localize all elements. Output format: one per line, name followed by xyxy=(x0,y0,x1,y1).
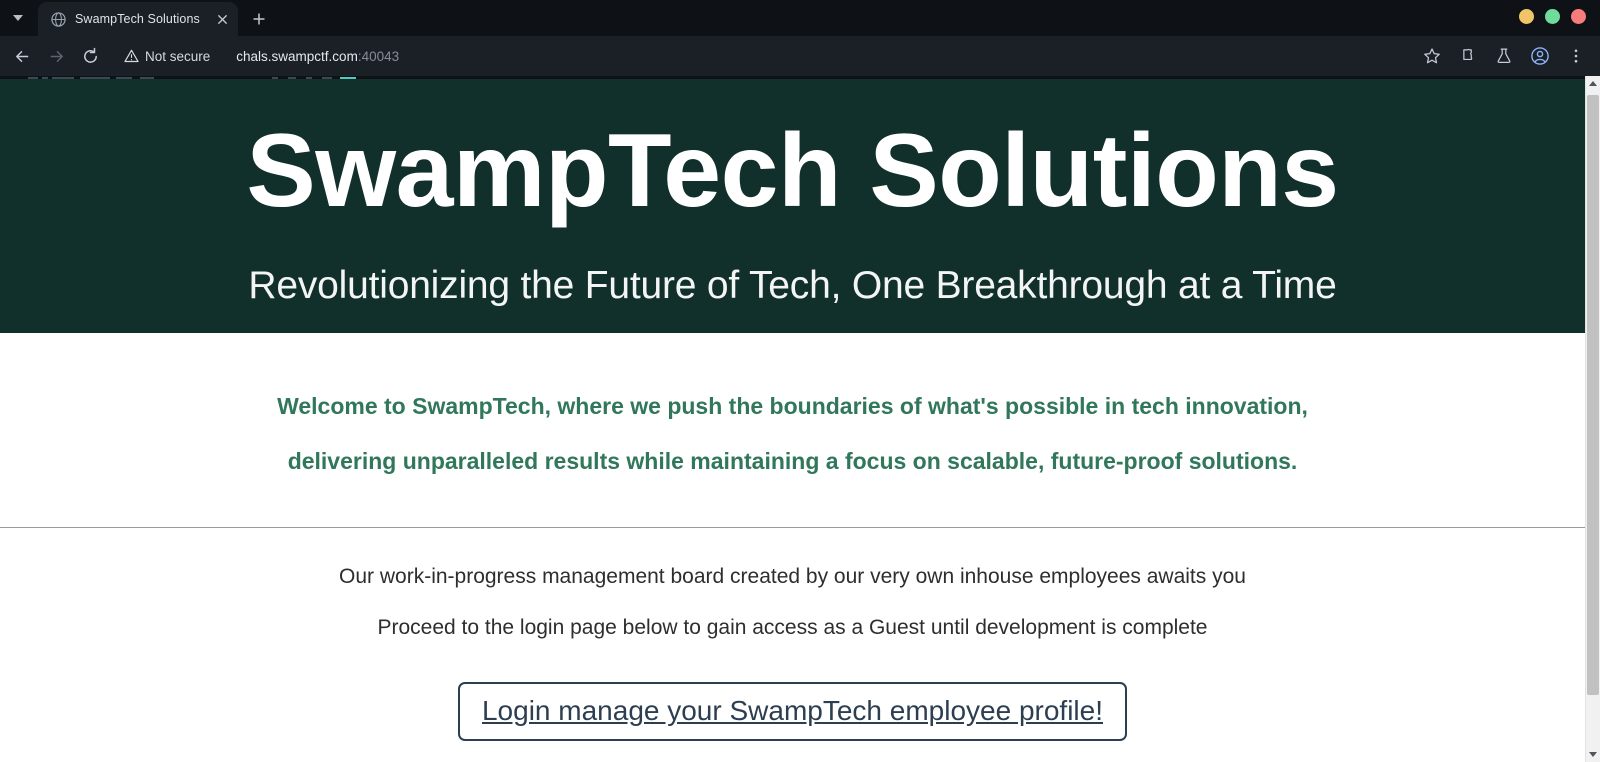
chevron-down-icon xyxy=(13,15,23,21)
forward-arrow-icon xyxy=(47,47,66,66)
puzzle-piece-icon xyxy=(1459,47,1477,65)
three-dot-menu-icon xyxy=(1567,47,1585,65)
page-content: SwampTech Solutions Revolutionizing the … xyxy=(0,76,1585,762)
url-text[interactable]: chals.swampctf.com:40043 xyxy=(236,49,399,64)
info-line-1: Our work-in-progress management board cr… xyxy=(40,562,1545,592)
tab-search-button[interactable] xyxy=(0,0,36,36)
globe-icon xyxy=(50,11,66,27)
security-label: Not secure xyxy=(145,49,210,64)
window-close-button[interactable] xyxy=(1571,9,1586,24)
browser-menu-button[interactable] xyxy=(1560,40,1592,72)
browser-toolbar: Not secure chals.swampctf.com:40043 xyxy=(0,36,1600,76)
welcome-line-1: Welcome to SwampTech, where we push the … xyxy=(40,379,1545,434)
close-icon[interactable] xyxy=(212,9,232,29)
extensions-button[interactable] xyxy=(1452,40,1484,72)
flask-icon xyxy=(1495,47,1513,65)
reload-icon xyxy=(81,47,100,66)
scroll-up-button[interactable] xyxy=(1586,76,1600,91)
scrollbar-thumb[interactable] xyxy=(1587,95,1599,695)
scrollbar-track[interactable] xyxy=(1586,91,1600,747)
plus-icon xyxy=(252,12,266,26)
welcome-section: Welcome to SwampTech, where we push the … xyxy=(0,333,1585,519)
scroll-down-arrow-icon xyxy=(1589,752,1597,757)
toolbar-actions xyxy=(1416,40,1592,72)
scroll-down-button[interactable] xyxy=(1586,747,1600,762)
hero-banner: SwampTech Solutions Revolutionizing the … xyxy=(0,79,1585,333)
profile-button[interactable] xyxy=(1524,40,1556,72)
security-status[interactable]: Not secure xyxy=(124,49,210,64)
bookmark-button[interactable] xyxy=(1416,40,1448,72)
warning-triangle-icon xyxy=(124,49,139,63)
url-host: chals.swampctf.com xyxy=(236,49,358,64)
info-section: Our work-in-progress management board cr… xyxy=(0,528,1585,643)
labs-button[interactable] xyxy=(1488,40,1520,72)
address-bar[interactable]: Not secure chals.swampctf.com:40043 xyxy=(114,41,1414,71)
reload-button[interactable] xyxy=(74,40,106,72)
account-circle-icon xyxy=(1530,46,1550,66)
tab-title: SwampTech Solutions xyxy=(75,12,203,26)
star-icon xyxy=(1423,47,1441,65)
page-title: SwampTech Solutions xyxy=(0,113,1585,229)
tab-swamptech-solutions[interactable]: SwampTech Solutions xyxy=(38,2,238,36)
scrolled-nav-sliver xyxy=(0,76,1585,79)
back-arrow-icon xyxy=(13,47,32,66)
info-line-2: Proceed to the login page below to gain … xyxy=(40,613,1545,643)
tab-strip: SwampTech Solutions xyxy=(0,0,1600,36)
forward-button[interactable] xyxy=(40,40,72,72)
page-viewport: SwampTech Solutions Revolutionizing the … xyxy=(0,76,1600,762)
login-button[interactable]: Login manage your SwampTech employee pro… xyxy=(458,682,1127,741)
cta-container: Login manage your SwampTech employee pro… xyxy=(0,663,1585,741)
page-subtitle: Revolutionizing the Future of Tech, One … xyxy=(0,263,1585,310)
scroll-up-arrow-icon xyxy=(1589,81,1597,86)
url-port: :40043 xyxy=(358,49,399,64)
welcome-line-2: delivering unparalleled results while ma… xyxy=(40,434,1545,489)
window-controls xyxy=(1519,9,1586,24)
window-minimize-button[interactable] xyxy=(1519,9,1534,24)
back-button[interactable] xyxy=(6,40,38,72)
page-scrollbar[interactable] xyxy=(1585,76,1600,762)
new-tab-button[interactable] xyxy=(244,4,274,34)
window-maximize-button[interactable] xyxy=(1545,9,1560,24)
browser-window: SwampTech Solutions xyxy=(0,0,1600,762)
